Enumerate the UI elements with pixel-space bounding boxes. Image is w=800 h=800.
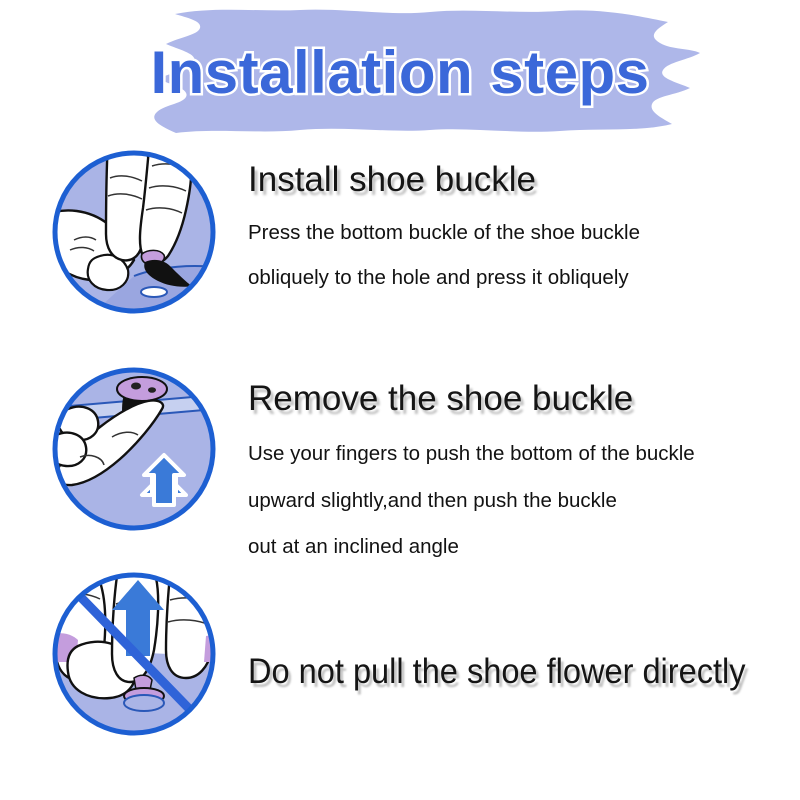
step-remove-shoe-buckle: Remove the shoe buckle Use your fingers … [0,365,800,555]
page-title: Installation steps [0,0,800,145]
step-3-text-block: Do not pull the shoe flower directly [248,570,788,691]
step-1-heading: Install shoe buckle [248,148,788,199]
step-do-not-pull: Do not pull the shoe flower directly [0,570,800,750]
step-2-heading: Remove the shoe buckle [248,365,788,418]
do-not-pull-illustration [50,570,218,738]
remove-shoe-buckle-illustration [50,365,218,533]
step-1-body-line-1: Press the bottom buckle of the shoe buck… [248,223,788,244]
step-2-body-line-2: upward slightly,and then push the buckle [248,491,788,512]
step-1-body-line-2: obliquely to the hole and press it obliq… [248,268,788,289]
step-2-body-line-3: out at an inclined angle [248,537,788,558]
step-2-body-line-1: Use your fingers to push the bottom of t… [248,444,788,465]
step-2-text-block: Remove the shoe buckle Use your fingers … [248,365,788,558]
step-install-shoe-buckle: Install shoe buckle Press the bottom buc… [0,148,800,348]
buckle-top [117,377,167,401]
step-1-text-block: Install shoe buckle Press the bottom buc… [248,148,788,288]
install-shoe-buckle-illustration [50,148,218,316]
header-banner: Installation steps [0,0,800,145]
step-3-heading: Do not pull the shoe flower directly [248,570,750,691]
